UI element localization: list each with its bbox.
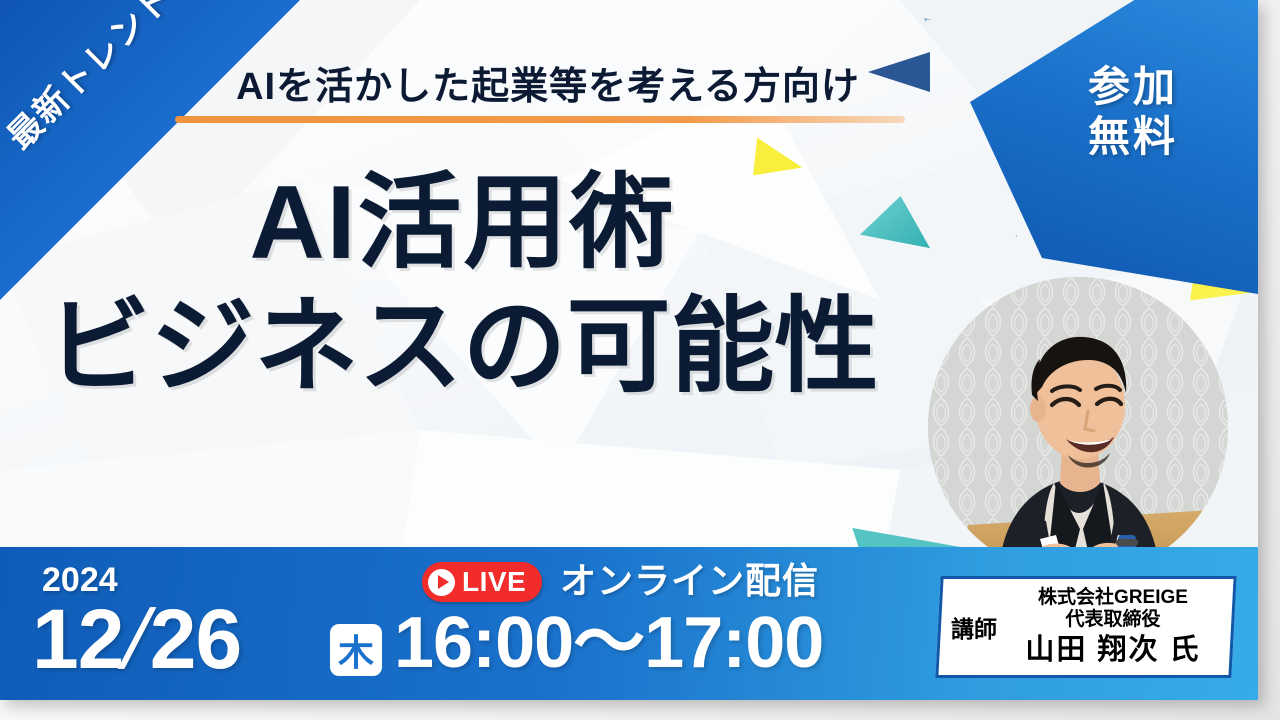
speaker-photo-illustration xyxy=(928,277,1228,577)
free-badge-label: 参加 無料 xyxy=(1048,62,1218,161)
event-date: 12/26 xyxy=(32,591,241,688)
delivery-label: オンライン配信 xyxy=(560,552,819,604)
event-day: 26 xyxy=(150,592,241,686)
subtitle: AIを活かした起業等を考える方向け xyxy=(178,55,918,110)
speaker-company: 株式会社GREIGE xyxy=(1005,587,1221,609)
page-title-line1: AI活用術 xyxy=(0,170,925,276)
schedule-bar: 2024 12/26 木 16:00〜17:00 LIVE オンライン配信 講師… xyxy=(0,547,1258,700)
live-badge: LIVE xyxy=(422,562,542,602)
day-of-week-badge: 木 xyxy=(330,624,382,676)
play-icon xyxy=(428,569,455,596)
page-title: AI活用術 ビジネスの可能性 xyxy=(0,170,925,400)
webinar-banner: 最新トレンド 参加 無料 AIを活かした起業等を考える方向け AI活用術 ビジネ… xyxy=(0,0,1258,700)
speaker-photo xyxy=(928,277,1228,577)
banner-page: 最新トレンド 参加 無料 AIを活かした起業等を考える方向け AI活用術 ビジネ… xyxy=(0,0,1280,720)
page-title-line2: ビジネスの可能性 xyxy=(0,294,925,400)
free-badge-line1: 参加 xyxy=(1088,63,1178,110)
free-badge-line2: 無料 xyxy=(1088,113,1178,160)
speaker-role-label: 講師 xyxy=(951,610,1005,644)
event-month: 12 xyxy=(32,592,123,686)
speaker-position: 代表取締役 xyxy=(1005,609,1221,631)
subtitle-underline xyxy=(175,116,905,123)
speaker-nameplate: 講師 株式会社GREIGE 代表取締役 山田 翔次 氏 xyxy=(935,576,1236,678)
live-badge-label: LIVE xyxy=(462,566,526,598)
speaker-name: 山田 翔次 氏 xyxy=(1005,632,1221,667)
